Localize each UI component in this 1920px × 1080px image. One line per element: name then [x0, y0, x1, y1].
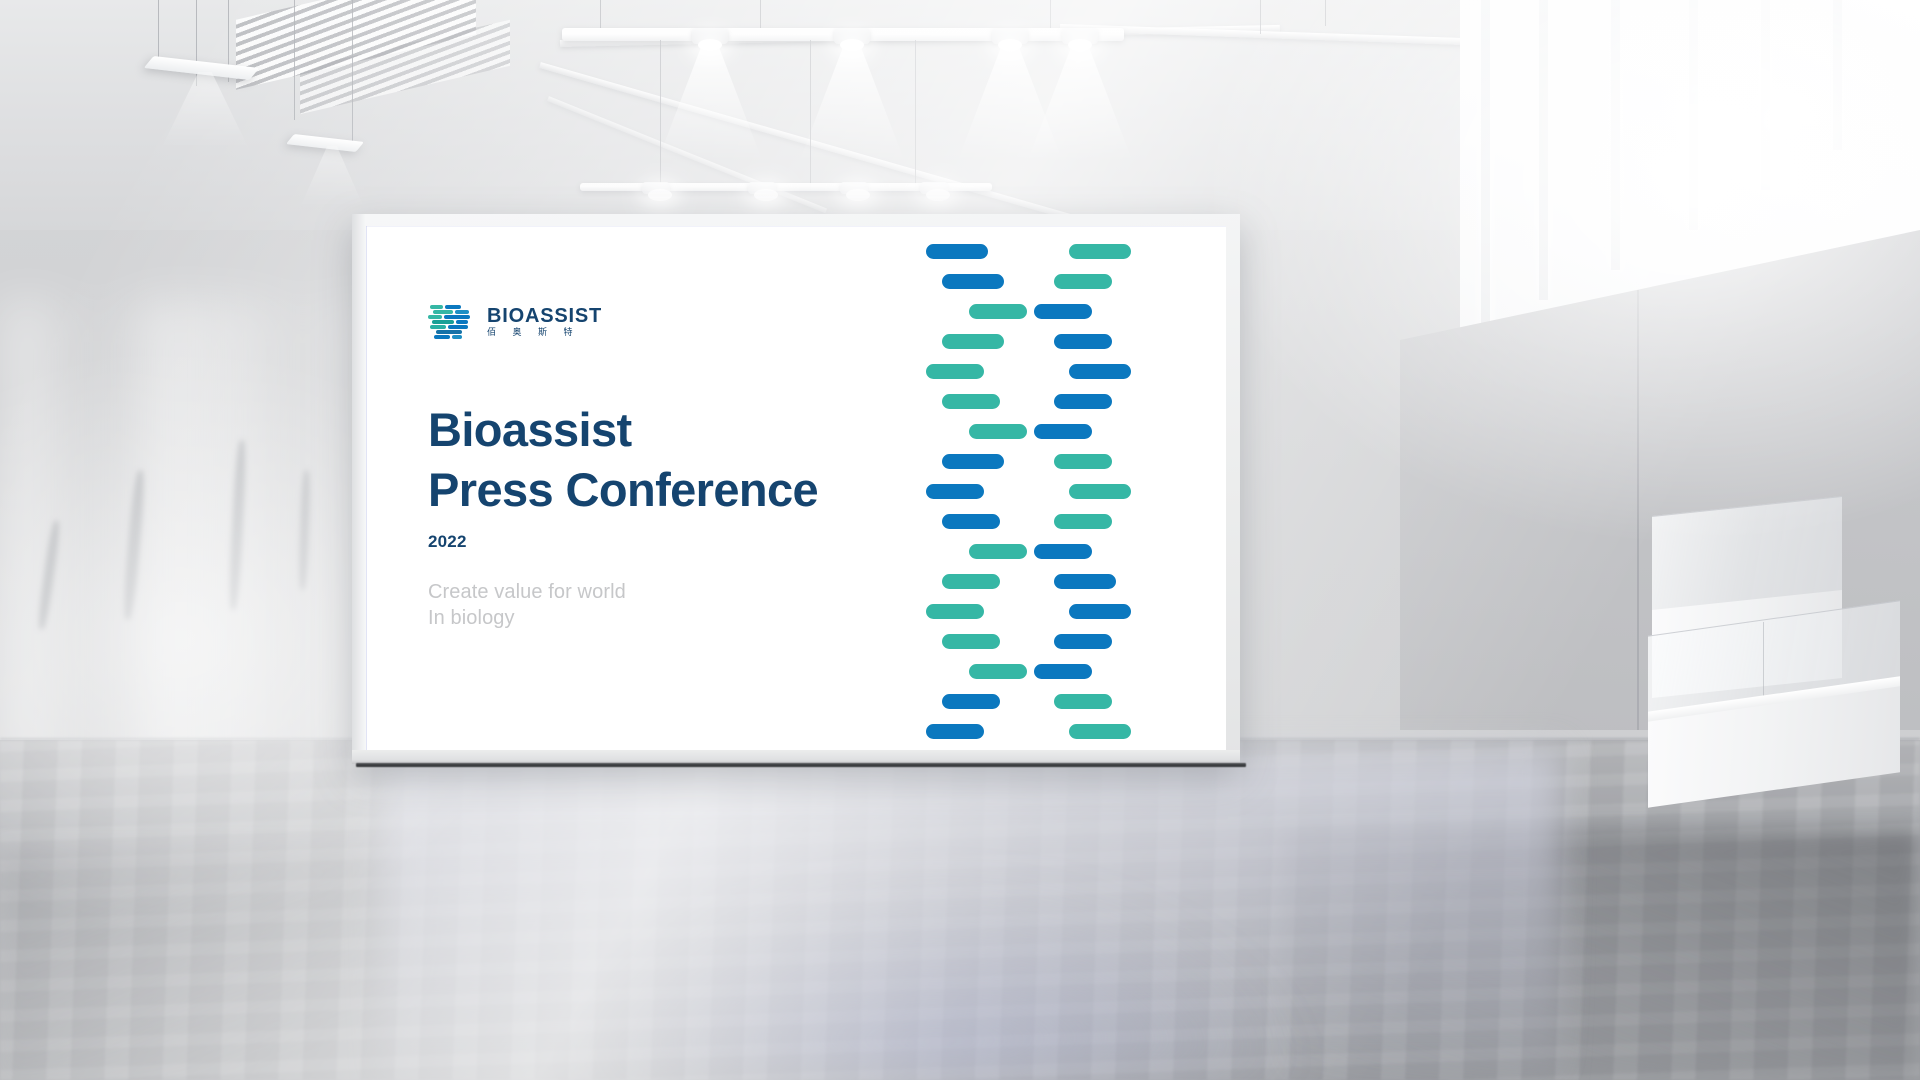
dna-bar [1034, 664, 1092, 679]
dna-bar [969, 664, 1027, 679]
dna-bar [969, 304, 1027, 319]
fixture-cable [600, 0, 601, 30]
brand-logo: BIOASSIST 佰 奥 斯 特 [428, 300, 602, 342]
dna-bar [1054, 634, 1112, 649]
window-mullion [1689, 0, 1698, 230]
ceiling-spotlight [642, 182, 670, 194]
window-mullion [1611, 0, 1620, 270]
dna-bar [1034, 304, 1092, 319]
logo-text-block: BIOASSIST 佰 奥 斯 特 [487, 306, 602, 337]
dna-bar [926, 604, 984, 619]
wall-panel-seam [1637, 290, 1639, 730]
dna-bar [942, 574, 1000, 589]
fixture-cable [1325, 0, 1326, 26]
gallery-scene: BIOASSIST 佰 奥 斯 特 Bioassist Press Confer… [0, 0, 1920, 1080]
slide-headline: Bioassist Press Conference [428, 400, 818, 520]
dna-bar [1054, 334, 1112, 349]
dna-bar [942, 454, 1004, 469]
dna-bar [1054, 454, 1112, 469]
slide-tagline: Create value for world In biology [428, 579, 626, 632]
dna-bar [1054, 694, 1112, 709]
fixture-cable [352, 0, 353, 145]
window-mullion [1539, 0, 1548, 300]
ceiling-spotlight [920, 182, 948, 194]
ceiling-spotlight [692, 28, 728, 44]
dna-bar [1069, 484, 1131, 499]
ceiling-spotlight [840, 182, 868, 194]
window-mullion [1761, 0, 1770, 190]
slide-canvas: BIOASSIST 佰 奥 斯 特 Bioassist Press Confer… [366, 226, 1226, 750]
dna-bar [942, 514, 1000, 529]
dna-bar [942, 634, 1000, 649]
dna-bar [1069, 724, 1131, 739]
screen-base-shadow [356, 763, 1246, 767]
screen-bottom-lip [352, 750, 1240, 764]
ceiling-spotlight [748, 182, 776, 194]
fixture-cable [660, 40, 661, 188]
screen-frame-left-edge [352, 214, 366, 764]
dna-bar [1054, 394, 1112, 409]
floor [0, 740, 1920, 1080]
fixture-cable [810, 40, 811, 190]
dna-bar [942, 694, 1000, 709]
window-mullion [1481, 0, 1490, 330]
logo-chinese-name: 佰 奥 斯 特 [487, 328, 602, 337]
dna-bar [1069, 364, 1131, 379]
fixture-cable [294, 0, 295, 120]
dna-bar [969, 544, 1027, 559]
dna-bar [1054, 274, 1112, 289]
dna-bar [1069, 244, 1131, 259]
ceiling-spotlight [1062, 28, 1098, 44]
dna-bar [926, 724, 984, 739]
dna-bar [942, 334, 1004, 349]
dna-bar [1034, 544, 1092, 559]
slide-year: 2022 [428, 532, 467, 552]
dna-bar [926, 244, 988, 259]
ceiling-spotlight [992, 28, 1028, 44]
dna-bar [1054, 514, 1112, 529]
dna-gel-graphic [926, 238, 1156, 750]
dna-bar [1069, 604, 1131, 619]
dna-bar [926, 364, 984, 379]
dna-bar [926, 484, 984, 499]
dna-bar [1054, 574, 1116, 589]
dna-bar [969, 424, 1027, 439]
dna-bar [942, 274, 1004, 289]
dna-bar [942, 394, 1000, 409]
presentation-screen[interactable]: BIOASSIST 佰 奥 斯 特 Bioassist Press Confer… [352, 214, 1240, 764]
bioassist-dna-mark-icon [428, 300, 474, 342]
window-mullion [1833, 0, 1842, 150]
logo-wordmark: BIOASSIST [487, 306, 602, 326]
ceiling-spotlight [834, 28, 870, 44]
fixture-cable [915, 40, 916, 190]
fixture-cable [1260, 0, 1261, 34]
dna-bar [1034, 424, 1092, 439]
